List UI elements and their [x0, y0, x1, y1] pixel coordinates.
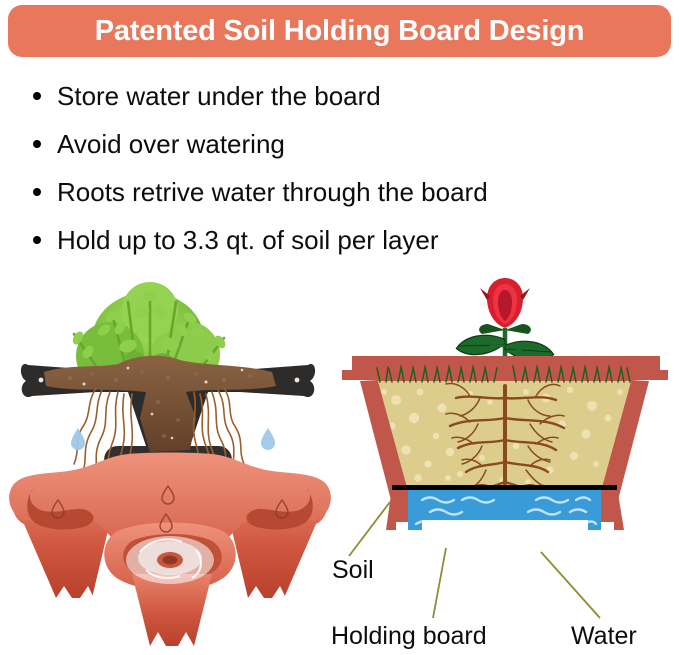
- feature-text: Avoid over watering: [57, 129, 285, 159]
- feature-text: Store water under the board: [57, 81, 381, 111]
- bullet-dot-icon: [33, 140, 41, 148]
- list-item: Roots retrive water through the board: [28, 168, 668, 216]
- left-product-photo: [0, 268, 340, 655]
- callout-label-water: Water: [571, 622, 637, 651]
- bullet-dot-icon: [33, 92, 41, 100]
- feature-text: Hold up to 3.3 qt. of soil per layer: [57, 225, 439, 255]
- water-reservoir: [408, 490, 601, 530]
- feature-bullet-list: Store water under the board Avoid over w…: [28, 72, 668, 264]
- header-banner: Patented Soil Holding Board Design: [8, 5, 671, 57]
- bullet-dot-icon: [33, 236, 41, 244]
- list-item: Store water under the board: [28, 72, 668, 120]
- center-drain-hole: [157, 552, 183, 568]
- page-title: Patented Soil Holding Board Design: [95, 15, 584, 48]
- callout-label-holding-board: Holding board: [331, 622, 487, 651]
- red-rose-flower: [479, 278, 531, 334]
- list-item: Avoid over watering: [28, 120, 668, 168]
- holding-board-line: [392, 485, 617, 490]
- feature-text: Roots retrive water through the board: [57, 177, 488, 207]
- illustration-area: [0, 268, 679, 655]
- bullet-dot-icon: [33, 188, 41, 196]
- callout-label-soil: Soil: [332, 556, 374, 585]
- right-cross-section-diagram: [330, 268, 679, 655]
- list-item: Hold up to 3.3 qt. of soil per layer: [28, 216, 668, 264]
